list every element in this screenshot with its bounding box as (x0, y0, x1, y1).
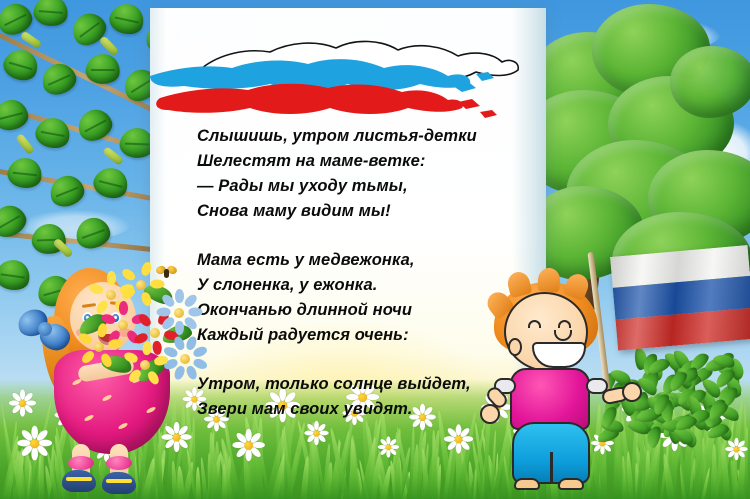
bouquet-flower-yellow (130, 350, 160, 380)
flower-core (180, 354, 190, 364)
poem-line: — Рады мы уходу тьмы, (197, 174, 527, 199)
boy-foot-left (514, 478, 540, 490)
poem-line: Звери мам своих увидят. (197, 397, 527, 422)
boy-foot-right (558, 478, 584, 490)
boy-hand-right (622, 382, 642, 402)
flower-core (136, 280, 146, 290)
daisy-core (670, 431, 679, 440)
girl-shoe-left (62, 470, 96, 492)
poem-line: У слоненка, у ежонка. (197, 273, 527, 298)
bouquet-flower-aster (164, 298, 194, 328)
bouquet-flower-pink (108, 310, 138, 340)
boy-hand-left (480, 404, 500, 424)
bouquet-flower-aster (170, 344, 200, 374)
boy-ear (508, 338, 522, 356)
dress-pattern (118, 422, 129, 430)
flower-core (94, 342, 104, 352)
dress-pattern (84, 414, 95, 422)
petal (175, 321, 184, 335)
boy-shirt (510, 368, 590, 430)
butterfly-body (164, 269, 169, 278)
petal (97, 323, 108, 338)
russian-tricolor-brushstroke (150, 28, 550, 120)
girl-shoe-right (102, 472, 136, 494)
greeting-card-scene: Слышишь, утром листья-детки Шелестят на … (0, 0, 750, 499)
daisy-flower (307, 424, 326, 443)
petal (107, 271, 116, 285)
dress-pattern (102, 394, 113, 402)
boy-head (504, 292, 588, 372)
petal (80, 349, 96, 365)
shoe-strap (66, 477, 92, 481)
poem-stanza-3: Утром, только солнце выйдет, Звери мам с… (197, 372, 527, 422)
petal (94, 299, 110, 316)
daisy-core (313, 430, 320, 437)
flower-core (106, 290, 116, 300)
boy-smile (532, 342, 586, 368)
petal (157, 308, 171, 317)
petal (119, 301, 128, 315)
daisy-flower (447, 428, 470, 451)
daisy-flower (662, 423, 687, 448)
poem-stanza-1: Слышишь, утром листья-детки Шелестят на … (197, 124, 527, 224)
boy-eye-left (528, 320, 541, 328)
petal (142, 341, 152, 356)
petal (88, 283, 104, 296)
butterfly (156, 266, 176, 280)
petal (189, 308, 203, 317)
daisy-core (454, 435, 462, 443)
boy-nose (554, 330, 572, 341)
poem-line: Снова маму видим мы! (197, 199, 527, 224)
daisy-core (244, 441, 253, 450)
daisy-flower (698, 405, 722, 429)
girl-sock-left (68, 456, 94, 470)
petal (108, 338, 123, 349)
girl-sock-right (106, 456, 132, 470)
daisy-core (385, 444, 391, 450)
poem-line: Шелестят на маме-ветке: (197, 149, 527, 174)
daisy-core (706, 413, 714, 421)
bouquet-flower-yellow (126, 270, 156, 300)
poem-line: Слышишь, утром листья-детки (197, 124, 527, 149)
poem-stanza-2: Мама есть у медвежонка, У слоненка, у еж… (197, 248, 527, 348)
flower-core (140, 360, 150, 370)
bouquet-flower-yellow (84, 332, 114, 362)
petal (140, 291, 153, 307)
daisy-flower (236, 433, 261, 458)
petal (151, 280, 165, 289)
daisy-flower (380, 439, 396, 455)
petal (120, 267, 137, 283)
petal (175, 289, 184, 303)
flower-core (118, 320, 128, 330)
boy-hair-spike (537, 267, 561, 292)
boy-pants (512, 422, 590, 484)
poem-line: Окончанью длинной ночи (197, 298, 527, 323)
bow-knot (38, 322, 52, 336)
poem-line: Мама есть у медвежонка, (197, 248, 527, 273)
petal (137, 312, 153, 328)
daisy-core (733, 446, 739, 452)
shoe-strap (106, 479, 132, 483)
flower-core (150, 328, 160, 338)
dress-pattern (146, 406, 157, 414)
boy-eye-right (558, 320, 571, 328)
petal (160, 293, 176, 309)
poem-line: Утром, только солнце выйдет, (197, 372, 527, 397)
brushstroke-red-speckle-b (480, 110, 497, 118)
daisy-flower (727, 440, 744, 457)
flower-core (174, 308, 184, 318)
poem-line: Каждый радуется очень: (197, 323, 527, 348)
boy-with-flag (492, 282, 642, 499)
brushstroke-red-stripe (156, 84, 463, 114)
petal (77, 331, 94, 346)
flower-bouquet (78, 270, 196, 382)
poem-text: Слышишь, утром листья-детки Шелестят на … (197, 124, 527, 422)
